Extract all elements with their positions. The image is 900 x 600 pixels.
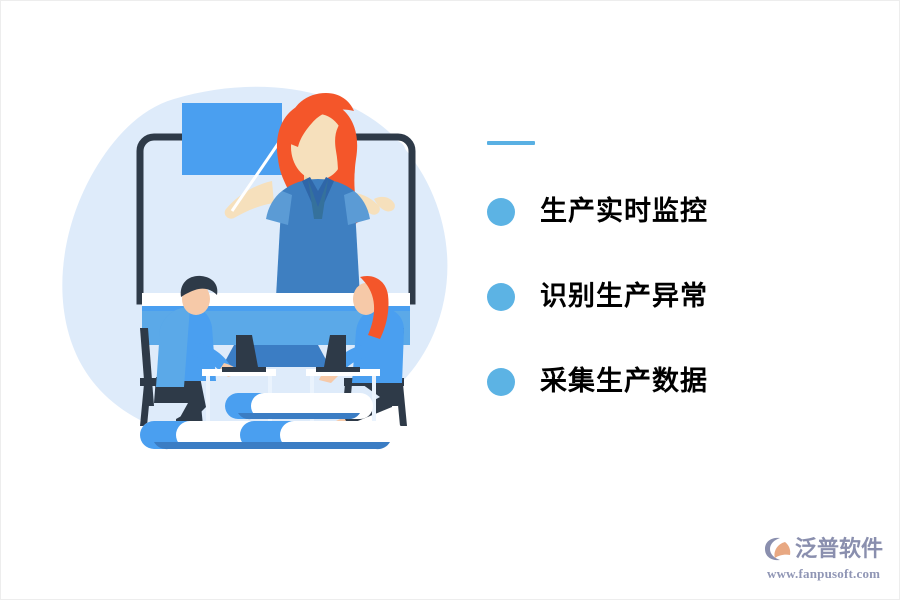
right-laptop-base [316, 367, 360, 372]
bullet-dot-icon [487, 198, 515, 226]
accent-rule [487, 141, 535, 145]
online-teaching-illustration [56, 81, 486, 451]
brand-url: www.fanpusoft.com [763, 566, 893, 582]
brand-watermark: 泛普软件 www.fanpusoft.com [763, 534, 893, 586]
feature-item-1[interactable]: 生产实时监控 [487, 183, 817, 240]
slide-canvas: 生产实时监控 识别生产异常 采集生产数据 泛普软件 www.fanpusoft.… [0, 0, 900, 600]
feature-label: 生产实时监控 [540, 198, 708, 225]
bullet-dot-icon [487, 368, 515, 396]
fanpu-logo-mark-icon [763, 536, 793, 562]
feature-item-3[interactable]: 采集生产数据 [487, 353, 817, 410]
left-laptop-base [222, 367, 266, 372]
feature-label: 采集生产数据 [540, 368, 708, 395]
feature-label: 识别生产异常 [540, 283, 708, 310]
book-upper-shadow [238, 413, 360, 419]
whiteboard [182, 103, 282, 175]
feature-item-2[interactable]: 识别生产异常 [487, 268, 817, 325]
bullet-dot-icon [487, 283, 515, 311]
left-desk-leg-a [206, 376, 210, 428]
right-desk-leg-b [372, 376, 376, 428]
book-lower-shadow [154, 442, 390, 449]
brand-lockup: 泛普软件 [763, 534, 893, 564]
brand-name: 泛普软件 [795, 538, 883, 560]
feature-list: 生产实时监控 识别生产异常 采集生产数据 [487, 141, 817, 410]
logo-arc-orange [774, 542, 790, 558]
